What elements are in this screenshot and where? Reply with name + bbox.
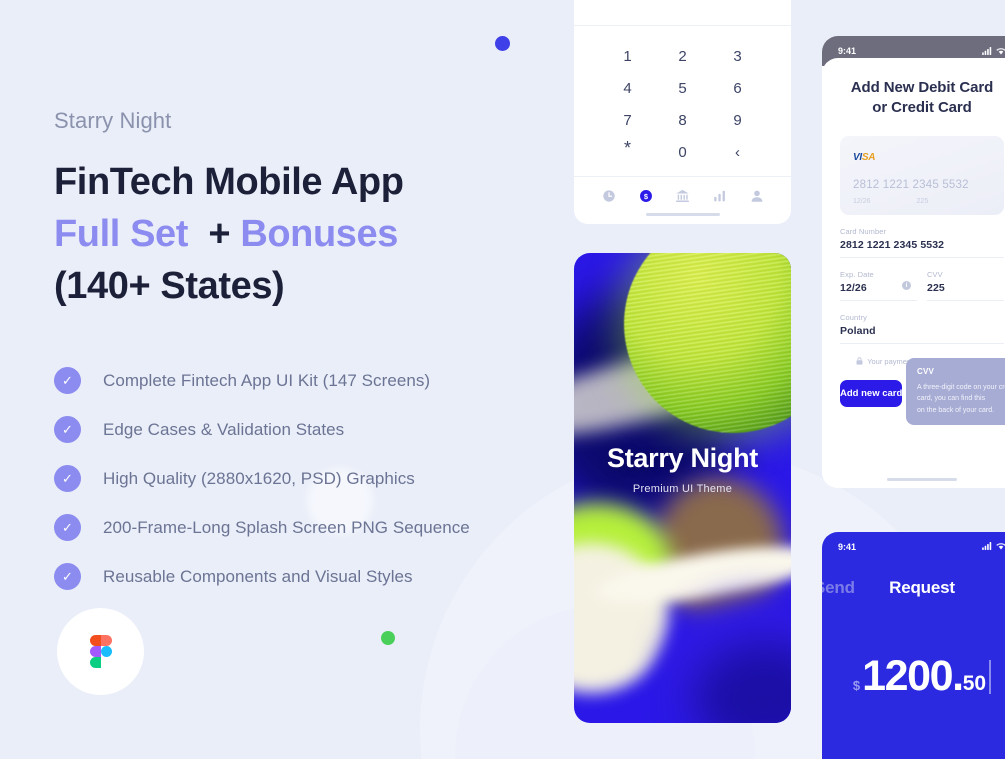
chart-icon [713, 189, 727, 203]
wifi-icon [996, 47, 1005, 55]
status-indicators [982, 542, 1005, 552]
card-number-value: 2812 1221 2345 5532 [840, 239, 1004, 251]
status-time: 9:41 [838, 542, 856, 552]
keypad-key-star[interactable]: * [600, 136, 655, 168]
headline-plus: + [208, 213, 230, 255]
signal-icon [982, 47, 993, 55]
keypad-grid: 1 2 3 4 5 6 7 8 9 * 0 ‹ [574, 26, 791, 178]
cvv-tooltip-line-2: card, you can find this [917, 395, 985, 402]
clock-icon [602, 189, 616, 203]
exp-date-label: Exp. Date [840, 270, 917, 279]
figma-logo-badge [57, 608, 144, 695]
page-title-line-2: or Credit Card [872, 99, 971, 116]
check-icon: ✓ [54, 416, 81, 443]
keypad-key-4[interactable]: 4 [600, 72, 655, 104]
phone-add-card-screen: 9:41 Add New Debit Card or Credit Card V… [822, 36, 1005, 488]
card-number-field[interactable]: Card Number 2812 1221 2345 5532 [840, 227, 1004, 258]
visa-logo-icon: VISA [853, 152, 875, 163]
phone-splash-screen: Starry Night Premium UI Theme [574, 253, 791, 723]
promo-eyebrow: Starry Night [54, 108, 524, 134]
amount-decimal: 50 [963, 672, 986, 696]
check-icon: ✓ [54, 514, 81, 541]
status-bar: 9:41 [822, 532, 1005, 562]
promo-headline: FinTech Mobile App Full Set + Bonuses (1… [54, 156, 524, 312]
feature-label: Complete Fintech App UI Kit (147 Screens… [103, 371, 430, 391]
amount-integer: 1200. [862, 652, 963, 701]
card-number-label: Card Number [840, 227, 1004, 236]
cvv-tooltip: CVV × A three-digit code on your credit … [906, 358, 1005, 425]
tab-dollar[interactable]: $ [627, 189, 664, 203]
phone-request-screen: 9:41 Send Request $ 1200. 50 [822, 532, 1005, 759]
keypad-display-area [574, 0, 791, 26]
text-caret [989, 660, 991, 694]
status-indicators [982, 47, 1005, 55]
keypad-key-7[interactable]: 7 [600, 104, 655, 136]
exp-date-field[interactable]: Exp. Date 12/26 i [840, 270, 917, 301]
headline-accent-full-set: Full Set [54, 213, 188, 255]
visa-card-number: 2812 1221 2345 5532 [853, 179, 969, 191]
list-item: ✓ Complete Fintech App UI Kit (147 Scree… [54, 356, 524, 405]
splash-title: Starry Night [574, 443, 791, 474]
visa-card-preview: VISA 2812 1221 2345 5532 12/26 225 [840, 136, 1004, 215]
phone-keypad-screen: 1 2 3 4 5 6 7 8 9 * 0 ‹ $ [574, 0, 791, 224]
person-icon [750, 189, 764, 203]
visa-cvv: 225 [917, 198, 929, 205]
tab-bank[interactable] [664, 189, 701, 203]
status-time: 9:41 [838, 46, 856, 56]
list-item: ✓ 200-Frame-Long Splash Screen PNG Seque… [54, 503, 524, 552]
country-label: Country [840, 313, 1004, 322]
tab-send[interactable]: Send [822, 578, 855, 598]
tab-clock[interactable] [590, 189, 627, 203]
dollar-icon: $ [639, 189, 653, 203]
cvv-field[interactable]: CVV 225 [927, 270, 1004, 301]
keypad-key-8[interactable]: 8 [655, 104, 710, 136]
list-item: ✓ Edge Cases & Validation States [54, 405, 524, 454]
home-indicator [646, 213, 720, 216]
cvv-tooltip-title: CVV [917, 367, 934, 376]
list-item: ✓ High Quality (2880x1620, PSD) Graphics [54, 454, 524, 503]
keypad-key-backspace[interactable]: ‹ [710, 136, 765, 168]
feature-label: Reusable Components and Visual Styles [103, 567, 413, 587]
exp-cvv-row: Exp. Date 12/26 i CVV 225 [840, 270, 1004, 301]
bank-icon [675, 189, 690, 203]
feature-label: High Quality (2880x1620, PSD) Graphics [103, 469, 415, 489]
headline-accent-bonuses: Bonuses [240, 213, 398, 255]
cvv-tooltip-header: CVV × [917, 367, 1005, 376]
feature-label: 200-Frame-Long Splash Screen PNG Sequenc… [103, 518, 470, 538]
splash-subtitle: Premium UI Theme [574, 483, 791, 495]
keypad-key-9[interactable]: 9 [710, 104, 765, 136]
signal-icon [982, 542, 993, 550]
keypad-key-1[interactable]: 1 [600, 40, 655, 72]
check-icon: ✓ [54, 465, 81, 492]
cvv-tooltip-line-3: on the back of your card. [917, 407, 994, 414]
keypad-key-3[interactable]: 3 [710, 40, 765, 72]
tab-chart[interactable] [701, 189, 738, 203]
decor-green-dot [381, 631, 395, 645]
cvv-tooltip-line-1: A three-digit code on your credit [917, 384, 1005, 391]
headline-line-1: FinTech Mobile App [54, 156, 524, 208]
check-icon: ✓ [54, 367, 81, 394]
amount-display[interactable]: $ 1200. 50 [822, 652, 1005, 701]
cvv-label: CVV [927, 270, 1004, 279]
cvv-tooltip-body: A three-digit code on your credit card, … [917, 382, 1005, 416]
cvv-value: 225 [927, 282, 1004, 294]
promo-column: Starry Night FinTech Mobile App Full Set… [54, 0, 524, 601]
feature-list: ✓ Complete Fintech App UI Kit (147 Scree… [54, 356, 524, 601]
page-title-line-1: Add New Debit Card [851, 79, 993, 96]
check-icon: ✓ [54, 563, 81, 590]
keypad-key-6[interactable]: 6 [710, 72, 765, 104]
keypad-key-2[interactable]: 2 [655, 40, 710, 72]
page-title: Add New Debit Card or Credit Card [838, 78, 1005, 118]
country-field[interactable]: Country Poland [840, 313, 1004, 344]
info-icon[interactable]: i [902, 281, 911, 290]
visa-exp: 12/26 [853, 198, 871, 205]
home-indicator [887, 478, 957, 481]
lock-icon [856, 357, 863, 365]
visa-card-meta: 12/26 225 [853, 198, 991, 205]
splash-text-block: Starry Night Premium UI Theme [574, 443, 791, 495]
tab-person[interactable] [738, 189, 775, 203]
add-new-card-button[interactable]: Add new card [840, 380, 902, 407]
keypad-key-5[interactable]: 5 [655, 72, 710, 104]
country-value: Poland [840, 325, 1004, 337]
list-item: ✓ Reusable Components and Visual Styles [54, 552, 524, 601]
keypad-tab-bar: $ [574, 176, 791, 224]
headline-line-2: Full Set + Bonuses [54, 208, 524, 260]
currency-symbol: $ [853, 678, 860, 693]
wifi-icon [996, 542, 1005, 550]
figma-icon [90, 635, 112, 668]
headline-line-3: (140+ States) [54, 260, 524, 312]
feature-label: Edge Cases & Validation States [103, 420, 344, 440]
keypad-key-0[interactable]: 0 [655, 136, 710, 168]
